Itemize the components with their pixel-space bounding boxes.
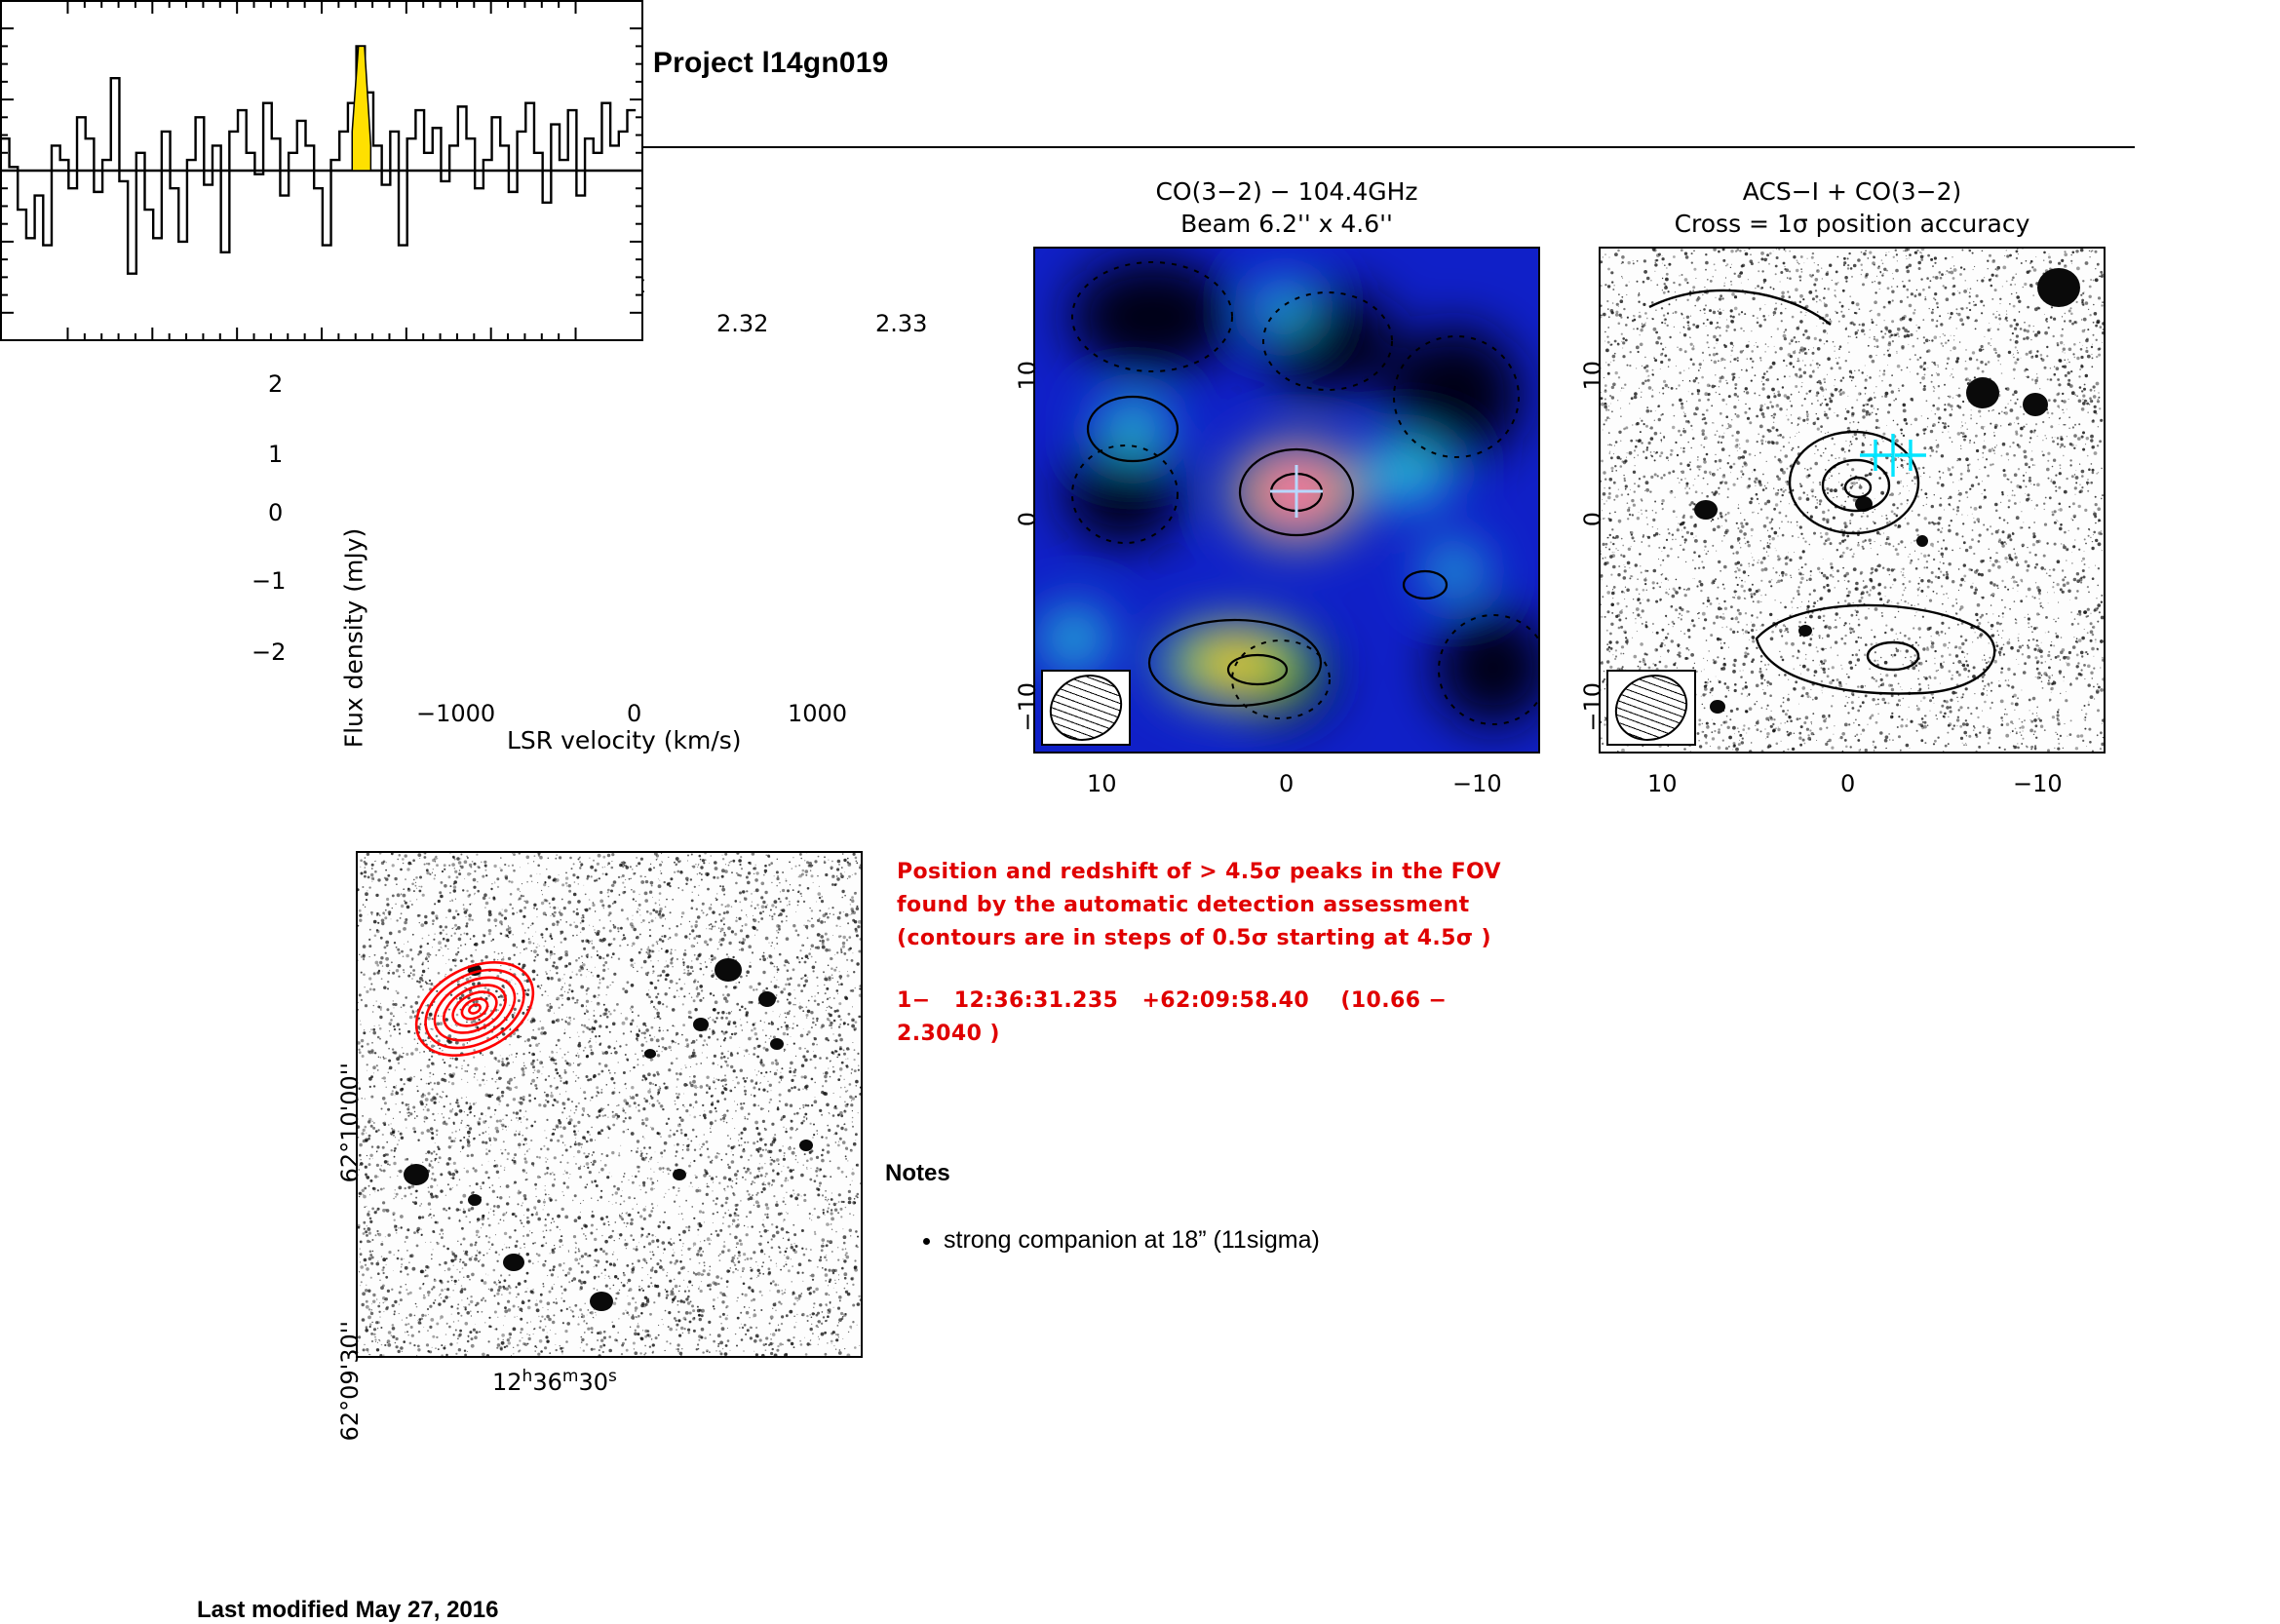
- notes-heading: Notes: [885, 1160, 950, 1187]
- spectrum-plot-area: [0, 0, 643, 341]
- detection-annotation: Position and redshift of > 4.5σ peaks in…: [897, 856, 1501, 1051]
- velocity-tick-0: 0: [627, 700, 641, 727]
- acs-map-title-line1: ACS−I + CO(3−2): [1599, 175, 2106, 208]
- detection-caption-line3: (contours are in steps of 0.5σ starting …: [897, 922, 1501, 955]
- acs-overlay-map[interactable]: [1599, 247, 2106, 754]
- finder-xtick-ra: 12h36m30s: [492, 1367, 617, 1396]
- co-map-title-line2: Beam 6.2'' x 4.6'': [1033, 208, 1540, 240]
- flux-tick-minus1: −1: [251, 567, 286, 595]
- flux-tick-1: 1: [268, 441, 283, 468]
- redshift-tick-2.33: 2.33: [875, 310, 927, 337]
- acs-beam-box: [1606, 670, 1696, 746]
- co-intensity-map[interactable]: [1033, 247, 1540, 754]
- ra-s-unit: s: [608, 1367, 617, 1386]
- spectrum-curve: [0, 0, 643, 341]
- ra-minutes: 36: [532, 1369, 562, 1396]
- detection-entry: 1− 12:36:31.235 +62:09:58.40 (10.66 − 2.…: [897, 985, 1501, 1051]
- redshift-tick-2.32: 2.32: [716, 310, 768, 337]
- note-item: strong companion at 18” (11sigma): [944, 1223, 1320, 1257]
- co-xtick-minus10: −10: [1452, 770, 1502, 797]
- finder-ytick-dec1: 62°10'00'': [336, 1063, 364, 1182]
- ra-h-unit: h: [522, 1367, 533, 1386]
- co-xtick-0: 0: [1279, 770, 1294, 797]
- co-map-title-line1: CO(3−2) − 104.4GHz: [1033, 175, 1540, 208]
- acs-beam-ellipse: [1604, 663, 1699, 753]
- co-ytick-10: 10: [1014, 361, 1041, 391]
- finder-chart-map[interactable]: [356, 851, 863, 1358]
- acs-ytick-10: 10: [1579, 361, 1606, 391]
- notes-list: strong companion at 18” (11sigma): [907, 1223, 1320, 1257]
- acs-ytick-minus10: −10: [1579, 682, 1606, 732]
- co-ytick-minus10: −10: [1014, 682, 1041, 732]
- acs-ytick-0: 0: [1579, 512, 1606, 526]
- velocity-tick-minus1000: −1000: [416, 700, 495, 727]
- flux-tick-minus2: −2: [251, 638, 286, 666]
- ra-seconds: 30: [578, 1369, 608, 1396]
- co-xtick-10: 10: [1087, 770, 1117, 797]
- detection-ra: 12:36:31.235: [954, 988, 1119, 1013]
- spectrum-x-axis-label: LSR velocity (km/s): [507, 726, 742, 754]
- last-modified-footer: Last modified May 27, 2016: [197, 1597, 498, 1624]
- detection-index: 1−: [897, 988, 931, 1013]
- acs-xtick-0: 0: [1840, 770, 1855, 797]
- flux-tick-0: 0: [268, 499, 283, 526]
- co-ytick-0: 0: [1014, 512, 1041, 526]
- spectrum-y-axis-label: Flux density (mJy): [339, 528, 367, 749]
- co-beam-ellipse: [1039, 663, 1134, 753]
- detection-caption-line1: Position and redshift of > 4.5σ peaks in…: [897, 856, 1501, 889]
- ra-m-unit: m: [562, 1367, 579, 1386]
- detection-dec: +62:09:58.40: [1141, 988, 1309, 1013]
- detection-caption-line2: found by the automatic detection assessm…: [897, 889, 1501, 922]
- ra-hours: 12: [492, 1369, 522, 1396]
- acs-xtick-minus10: −10: [2013, 770, 2063, 797]
- finder-chart-image: [358, 853, 861, 1356]
- velocity-tick-1000: 1000: [788, 700, 847, 727]
- flux-tick-2: 2: [268, 370, 283, 398]
- acs-xtick-10: 10: [1647, 770, 1678, 797]
- acs-map-title-line2: Cross = 1σ position accuracy: [1584, 208, 2120, 240]
- co-beam-box: [1041, 670, 1131, 746]
- finder-ytick-dec2: 62°09'30'': [336, 1321, 364, 1441]
